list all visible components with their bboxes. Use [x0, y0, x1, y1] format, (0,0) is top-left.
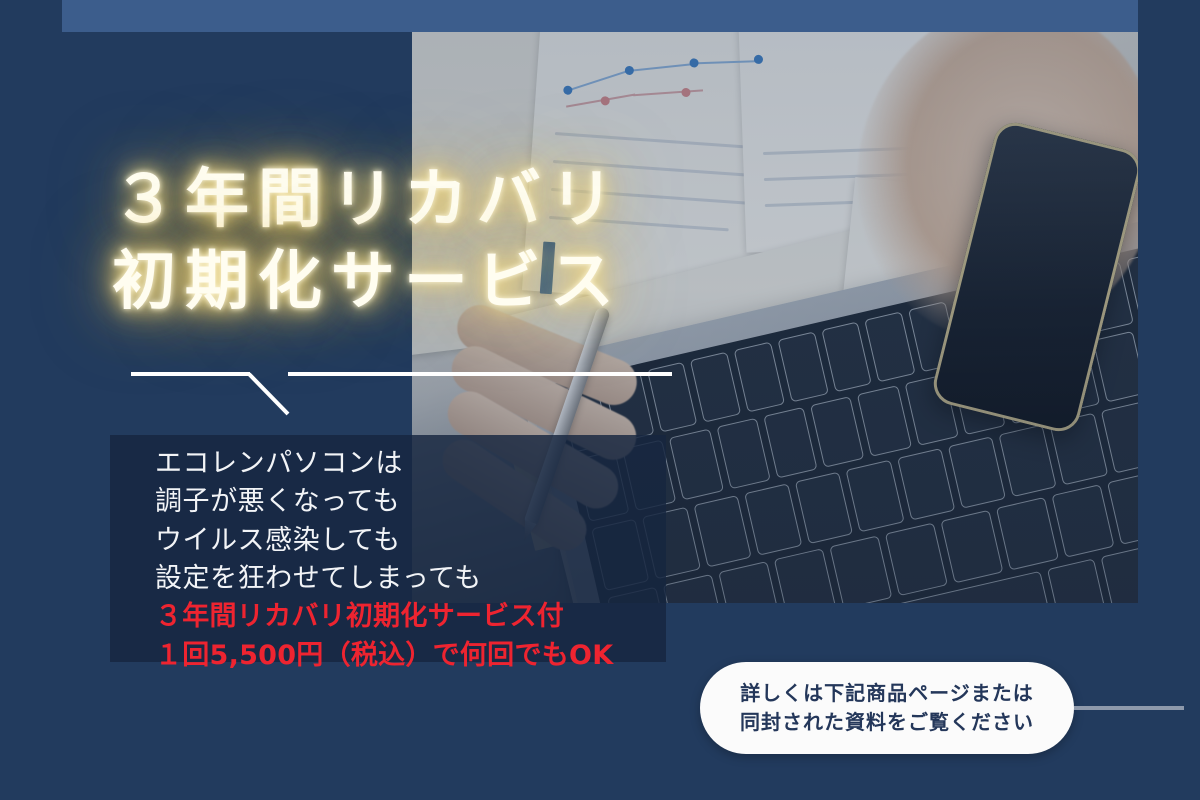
headline-line-2: 初期化サービス	[112, 242, 872, 324]
body-text-panel: エコレンパソコンは 調子が悪くなっても ウイルス感染しても 設定を狂わせてしまっ…	[110, 435, 666, 662]
highlight-line-2: １回5,500円（税込）で何回でもOK	[155, 637, 613, 675]
body-line-1: エコレンパソコンは	[155, 445, 613, 483]
promo-banner: ３年間リカバリ 初期化サービス エコレンパソコンは 調子が悪くなっても ウイルス…	[0, 0, 1200, 800]
callout-line-1: 詳しくは下記商品ページまたは	[740, 679, 1034, 708]
highlight-line-1: ３年間リカバリ初期化サービス付	[155, 598, 613, 636]
body-line-3: ウイルス感染しても	[155, 522, 613, 560]
callout-tail-line	[1074, 706, 1184, 710]
callout: 詳しくは下記商品ページまたは 同封された資料をご覧ください	[700, 662, 1074, 754]
top-accent-band	[62, 0, 1138, 32]
body-line-2: 調子が悪くなっても	[155, 483, 613, 521]
divider-pointer	[0, 352, 1200, 422]
headline-line-1: ３年間リカバリ	[112, 160, 872, 242]
callout-bubble: 詳しくは下記商品ページまたは 同封された資料をご覧ください	[700, 662, 1074, 754]
callout-line-2: 同封された資料をご覧ください	[740, 708, 1034, 737]
body-line-4: 設定を狂わせてしまっても	[155, 560, 613, 598]
headline: ３年間リカバリ 初期化サービス	[112, 160, 872, 324]
